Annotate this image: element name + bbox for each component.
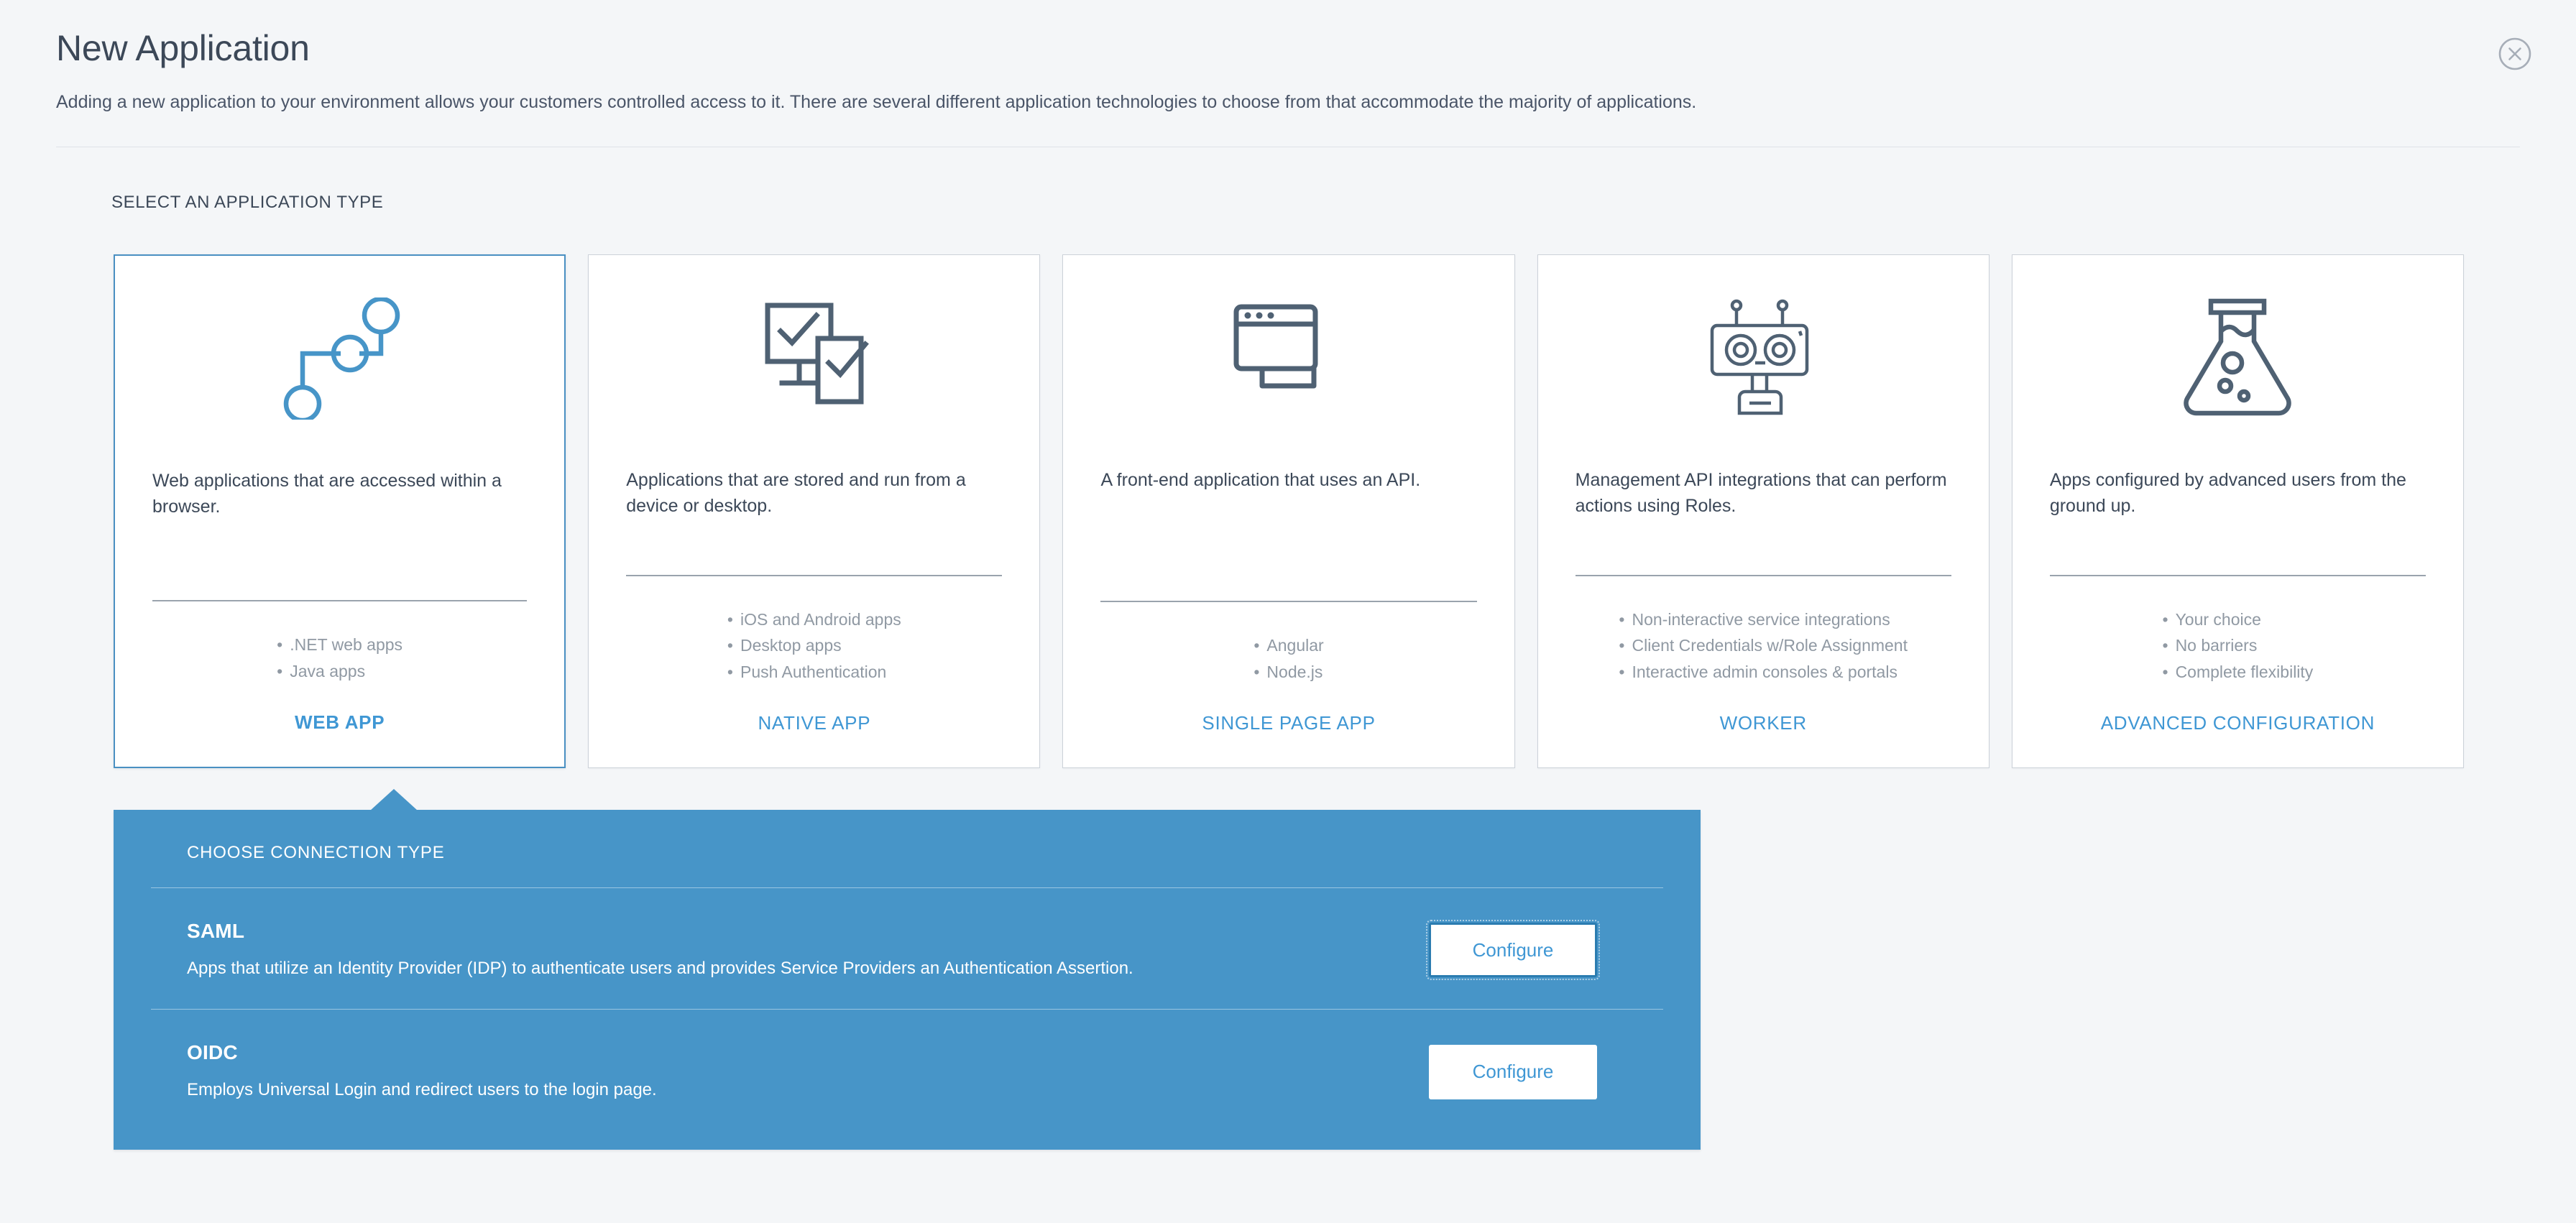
connection-text-oidc: OIDC Employs Universal Login and redirec… (151, 1041, 1429, 1102)
app-type-card-native-app[interactable]: Applications that are stored and run fro… (588, 254, 1040, 768)
section-label: SELECT AN APPLICATION TYPE (111, 193, 2576, 213)
card-bullets-wrap: .NET web apps Java apps (152, 601, 527, 684)
card-description: Management API integrations that can per… (1575, 468, 1951, 545)
card-cta-native-app[interactable]: NATIVE APP (626, 685, 1002, 767)
list-item: Client Credentials w/Role Assignment (1619, 632, 1908, 658)
connection-name: SAML (187, 920, 1429, 943)
list-item: Complete flexibility (2163, 659, 2314, 685)
list-item: Desktop apps (727, 632, 901, 658)
app-type-card-single-page-app[interactable]: A front-end application that uses an API… (1062, 254, 1514, 768)
card-spacer (2050, 545, 2426, 575)
list-item: Interactive admin consoles & portals (1619, 659, 1908, 685)
dialog-header: New Application Adding a new application… (0, 0, 2576, 115)
card-bullets-wrap: Non-interactive service integrations Cli… (1575, 576, 1951, 685)
card-spacer (626, 545, 1002, 575)
desktop-mobile-check-icon (626, 268, 1002, 448)
card-spacer (152, 546, 527, 600)
card-bullet-list: Your choice No barriers Complete flexibi… (2163, 606, 2314, 685)
list-item: iOS and Android apps (727, 606, 901, 632)
list-item: No barriers (2163, 632, 2314, 658)
connection-row-saml: SAML Apps that utilize an Identity Provi… (151, 888, 1663, 1010)
new-application-dialog: New Application Adding a new application… (0, 0, 2576, 1223)
header-divider (56, 147, 2520, 147)
list-item: Angular (1253, 632, 1323, 658)
card-spacer (1575, 545, 1951, 575)
node-graph-icon (152, 269, 527, 448)
card-bullets-wrap: Angular Node.js (1100, 602, 1476, 685)
list-item: Your choice (2163, 606, 2314, 632)
list-item: Non-interactive service integrations (1619, 606, 1908, 632)
app-type-card-worker[interactable]: Management API integrations that can per… (1537, 254, 1989, 768)
choose-connection-type-panel: CHOOSE CONNECTION TYPE SAML Apps that ut… (114, 810, 1701, 1150)
configure-button-saml[interactable]: Configure (1429, 923, 1597, 977)
page-title: New Application (56, 29, 2520, 68)
card-description: Applications that are stored and run fro… (626, 468, 1002, 545)
list-item: Push Authentication (727, 659, 901, 685)
flask-icon (2050, 268, 2426, 448)
card-spacer (1100, 545, 1476, 601)
connection-description: Apps that utilize an Identity Provider (… (187, 957, 1429, 980)
card-description: Apps configured by advanced users from t… (2050, 468, 2426, 545)
card-cta-advanced-configuration[interactable]: ADVANCED CONFIGURATION (2050, 685, 2426, 767)
card-cta-worker[interactable]: WORKER (1575, 685, 1951, 767)
close-circle-icon[interactable] (2495, 34, 2534, 73)
list-item: Node.js (1253, 659, 1323, 685)
browser-windows-icon (1100, 268, 1476, 448)
card-description: A front-end application that uses an API… (1100, 468, 1476, 545)
card-bullets-wrap: Your choice No barriers Complete flexibi… (2050, 576, 2426, 685)
connection-text-saml: SAML Apps that utilize an Identity Provi… (151, 920, 1429, 980)
card-bullets-wrap: iOS and Android apps Desktop apps Push A… (626, 576, 1002, 685)
page-subtitle: Adding a new application to your environ… (56, 90, 2520, 115)
card-cta-single-page-app[interactable]: SINGLE PAGE APP (1100, 685, 1476, 767)
list-item: Java apps (277, 658, 402, 684)
list-item: .NET web apps (277, 632, 402, 657)
card-bullet-list: Non-interactive service integrations Cli… (1619, 606, 1908, 685)
app-type-card-web-app[interactable]: Web applications that are accessed withi… (114, 254, 566, 768)
connection-row-oidc: OIDC Employs Universal Login and redirec… (151, 1010, 1663, 1109)
panel-pointer-arrow (370, 789, 418, 811)
connection-name: OIDC (187, 1041, 1429, 1064)
configure-button-oidc[interactable]: Configure (1429, 1045, 1597, 1099)
connection-panel-title: CHOOSE CONNECTION TYPE (151, 843, 1663, 888)
connection-description: Employs Universal Login and redirect use… (187, 1079, 1429, 1102)
application-type-cards: Web applications that are accessed withi… (114, 254, 2464, 768)
card-bullet-list: Angular Node.js (1253, 632, 1323, 685)
card-description: Web applications that are accessed withi… (152, 469, 527, 546)
card-bullet-list: .NET web apps Java apps (277, 632, 402, 684)
card-bullet-list: iOS and Android apps Desktop apps Push A… (727, 606, 901, 685)
card-cta-web-app[interactable]: WEB APP (152, 684, 527, 767)
app-type-card-advanced-configuration[interactable]: Apps configured by advanced users from t… (2012, 254, 2464, 768)
robot-icon (1575, 268, 1951, 448)
